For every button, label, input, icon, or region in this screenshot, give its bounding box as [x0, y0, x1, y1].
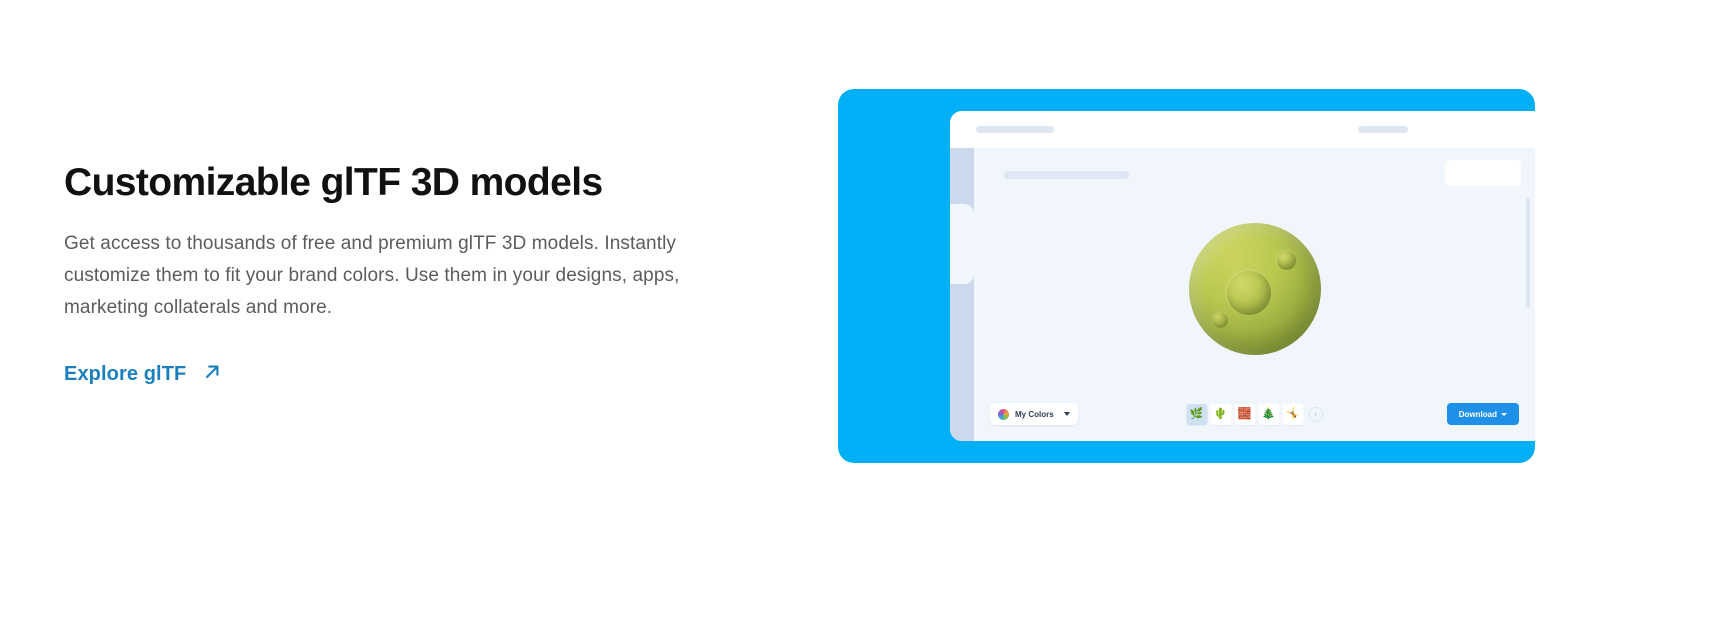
- illustration-panel: My Colors 🌿 🌵 🧱 🎄 🤸 › Downlo: [838, 89, 1535, 463]
- model-thumb-plant[interactable]: 🌿: [1186, 404, 1207, 425]
- feature-description: Get access to thousands of free and prem…: [64, 228, 754, 324]
- model-thumb-cactus[interactable]: 🌵: [1210, 404, 1231, 425]
- model-thumbnail-strip: 🌿 🌵 🧱 🎄 🤸 ›: [1186, 404, 1323, 425]
- explore-gltf-link[interactable]: Explore glTF: [64, 362, 222, 387]
- breadcrumb-placeholder: [1004, 171, 1129, 179]
- app-mockup-window: My Colors 🌿 🌵 🧱 🎄 🤸 › Downlo: [950, 111, 1535, 441]
- page-title: Customizable glTF 3D models: [64, 160, 764, 206]
- download-label: Download: [1459, 410, 1497, 419]
- model-thumb-figure[interactable]: 🤸: [1282, 404, 1303, 425]
- topbar-menu-placeholder: [1358, 126, 1408, 133]
- my-colors-dropdown[interactable]: My Colors: [990, 403, 1078, 425]
- sidebar-notch: [950, 204, 974, 284]
- sphere-bump-small: [1213, 313, 1228, 328]
- explore-gltf-label: Explore glTF: [64, 363, 186, 386]
- app-mockup-canvas: My Colors 🌿 🌵 🧱 🎄 🤸 › Downlo: [974, 148, 1535, 441]
- topbar-logo-placeholder: [976, 126, 1054, 133]
- model-toolbar: My Colors 🌿 🌵 🧱 🎄 🤸 › Downlo: [974, 401, 1535, 427]
- my-colors-label: My Colors: [1015, 410, 1054, 419]
- sphere-bump-medium: [1277, 251, 1296, 270]
- model-thumb-tree[interactable]: 🎄: [1258, 404, 1279, 425]
- chevron-down-icon: [1064, 412, 1070, 416]
- app-mockup-topbar: [950, 111, 1535, 148]
- arrow-up-right-icon: [202, 362, 222, 387]
- model-viewport: [974, 194, 1535, 384]
- sphere-bump-large: [1227, 271, 1271, 315]
- model-thumb-block[interactable]: 🧱: [1234, 404, 1255, 425]
- color-wheel-icon: [998, 409, 1009, 420]
- page-root: Customizable glTF 3D models Get access t…: [0, 0, 1723, 627]
- search-card-placeholder[interactable]: [1445, 160, 1521, 186]
- chevron-down-icon: [1501, 413, 1507, 416]
- 3d-sphere-model[interactable]: [1189, 223, 1321, 355]
- more-models-button[interactable]: ›: [1308, 407, 1323, 422]
- feature-text-column: Customizable glTF 3D models Get access t…: [64, 160, 764, 387]
- app-mockup-sidebar: [950, 148, 974, 441]
- app-mockup-body: My Colors 🌿 🌵 🧱 🎄 🤸 › Downlo: [950, 148, 1535, 441]
- download-button[interactable]: Download: [1447, 403, 1519, 425]
